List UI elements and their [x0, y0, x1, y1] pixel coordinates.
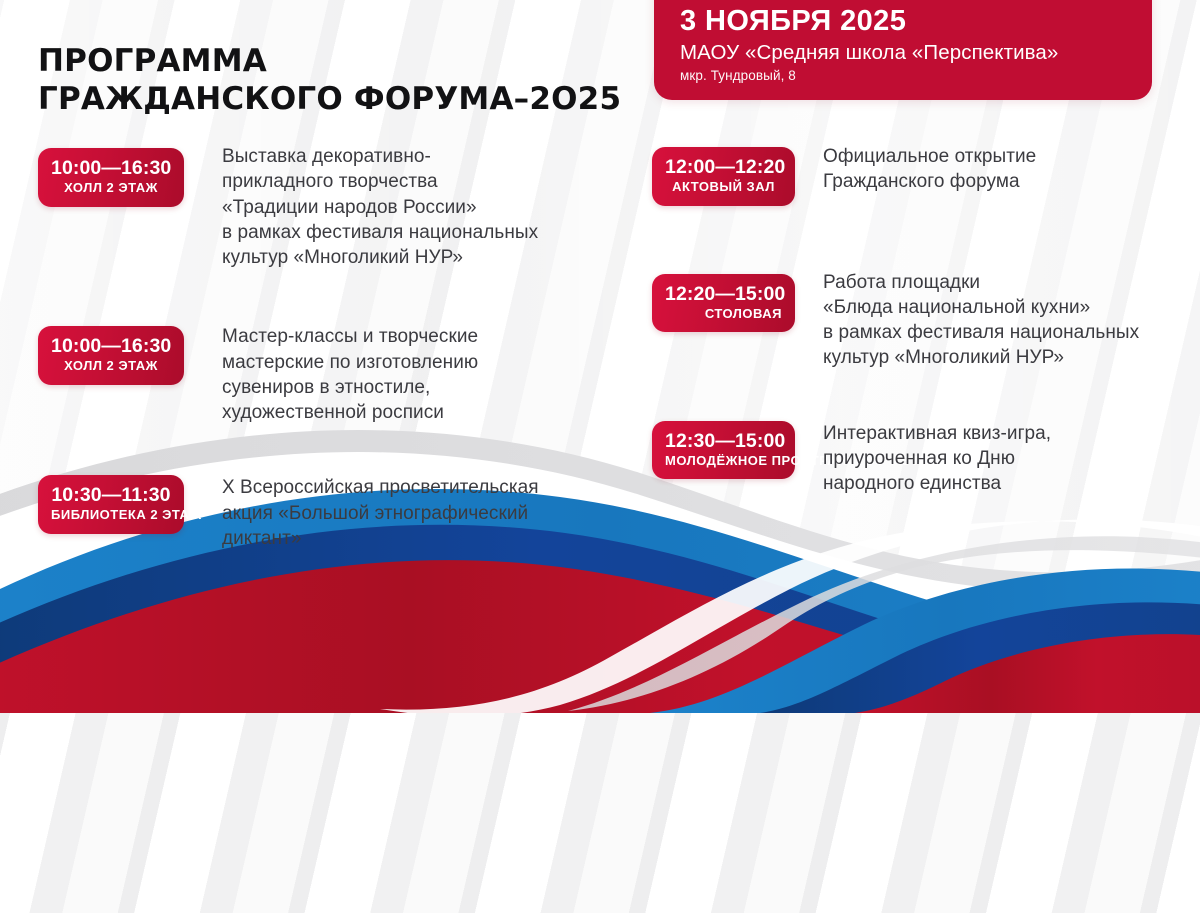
time-place-badge: 10:00—16:30 ХОЛЛ 2 ЭТАЖ: [38, 326, 184, 385]
time-place-badge: 12:30—15:00 МОЛОДЁЖНОЕ ПРОСТРАНСТВО 3 ЭТ…: [652, 421, 795, 480]
badge-time: 12:20—15:00: [665, 283, 782, 306]
time-place-badge: 10:30—11:30 БИБЛИОТЕКА 2 ЭТАЖ: [38, 475, 184, 534]
schedule-item-description: X Всероссийская просветительская акция «…: [222, 473, 539, 551]
schedule-item-description: Интерактивная квиз-игра, приуроченная ко…: [823, 419, 1051, 497]
time-place-badge: 12:20—15:00 СТОЛОВАЯ: [652, 274, 795, 333]
schedule-item: 12:30—15:00 МОЛОДЁЖНОЕ ПРОСТРАНСТВО 3 ЭТ…: [652, 419, 1192, 497]
time-place-badge: 12:00—12:20 АКТОВЫЙ ЗАЛ: [652, 147, 795, 206]
badge-place: АКТОВЫЙ ЗАЛ: [665, 179, 782, 196]
badge-time: 12:30—15:00: [665, 430, 782, 453]
badge-time: 10:30—11:30: [51, 484, 171, 507]
event-address: мкр. Тундровый, 8: [680, 68, 1152, 84]
badge-time: 10:00—16:30: [51, 335, 171, 358]
schedule-column-left: 10:00—16:30 ХОЛЛ 2 ЭТАЖ Выставка декорат…: [38, 142, 628, 451]
event-header-block: 3 НОЯБРЯ 2025 МАОУ «Средняя школа «Персп…: [654, 0, 1152, 100]
schedule-column-right: 12:00—12:20 АКТОВЫЙ ЗАЛ Официальное откр…: [652, 142, 1192, 386]
badge-place: ХОЛЛ 2 ЭТАЖ: [51, 180, 171, 197]
schedule-item: 12:00—12:20 АКТОВЫЙ ЗАЛ Официальное откр…: [652, 142, 1192, 206]
badge-place: МОЛОДЁЖНОЕ ПРОСТРАНСТВО 3 ЭТАЖ: [665, 453, 782, 470]
event-date: 3 НОЯБРЯ 2025: [680, 6, 1152, 37]
page-title-line-1: ПРОГРАММА: [38, 43, 267, 79]
schedule-item: 12:20—15:00 СТОЛОВАЯ Работа площадки «Бл…: [652, 268, 1192, 371]
schedule-item: 10:00—16:30 ХОЛЛ 2 ЭТАЖ Выставка декорат…: [38, 142, 628, 270]
schedule-item-description: Официальное открытие Гражданского форума: [823, 142, 1036, 195]
schedule-item: 10:30—11:30 БИБЛИОТЕКА 2 ЭТАЖ X Всеросси…: [38, 473, 628, 551]
schedule-item-description: Мастер-классы и творческие мастерские по…: [222, 322, 478, 425]
time-place-badge: 10:00—16:30 ХОЛЛ 2 ЭТАЖ: [38, 148, 184, 207]
badge-time: 12:00—12:20: [665, 156, 782, 179]
page-title-line-2: ГРАЖДАНСКОГО ФОРУМА–2O25: [38, 81, 638, 119]
page-title: ПРОГРАММА ГРАЖДАНСКОГО ФОРУМА–2O25: [38, 43, 638, 119]
schedule-item: 10:00—16:30 ХОЛЛ 2 ЭТАЖ Мастер-классы и …: [38, 322, 628, 425]
badge-place: ХОЛЛ 2 ЭТАЖ: [51, 358, 171, 375]
schedule-item-description: Работа площадки «Блюда национальной кухн…: [823, 268, 1139, 371]
badge-place: СТОЛОВАЯ: [665, 306, 782, 323]
badge-place: БИБЛИОТЕКА 2 ЭТАЖ: [51, 507, 171, 524]
schedule-item-description: Выставка декоративно- прикладного творче…: [222, 142, 538, 270]
event-venue: МАОУ «Средняя школа «Перспектива»: [680, 41, 1152, 65]
badge-time: 10:00—16:30: [51, 157, 171, 180]
